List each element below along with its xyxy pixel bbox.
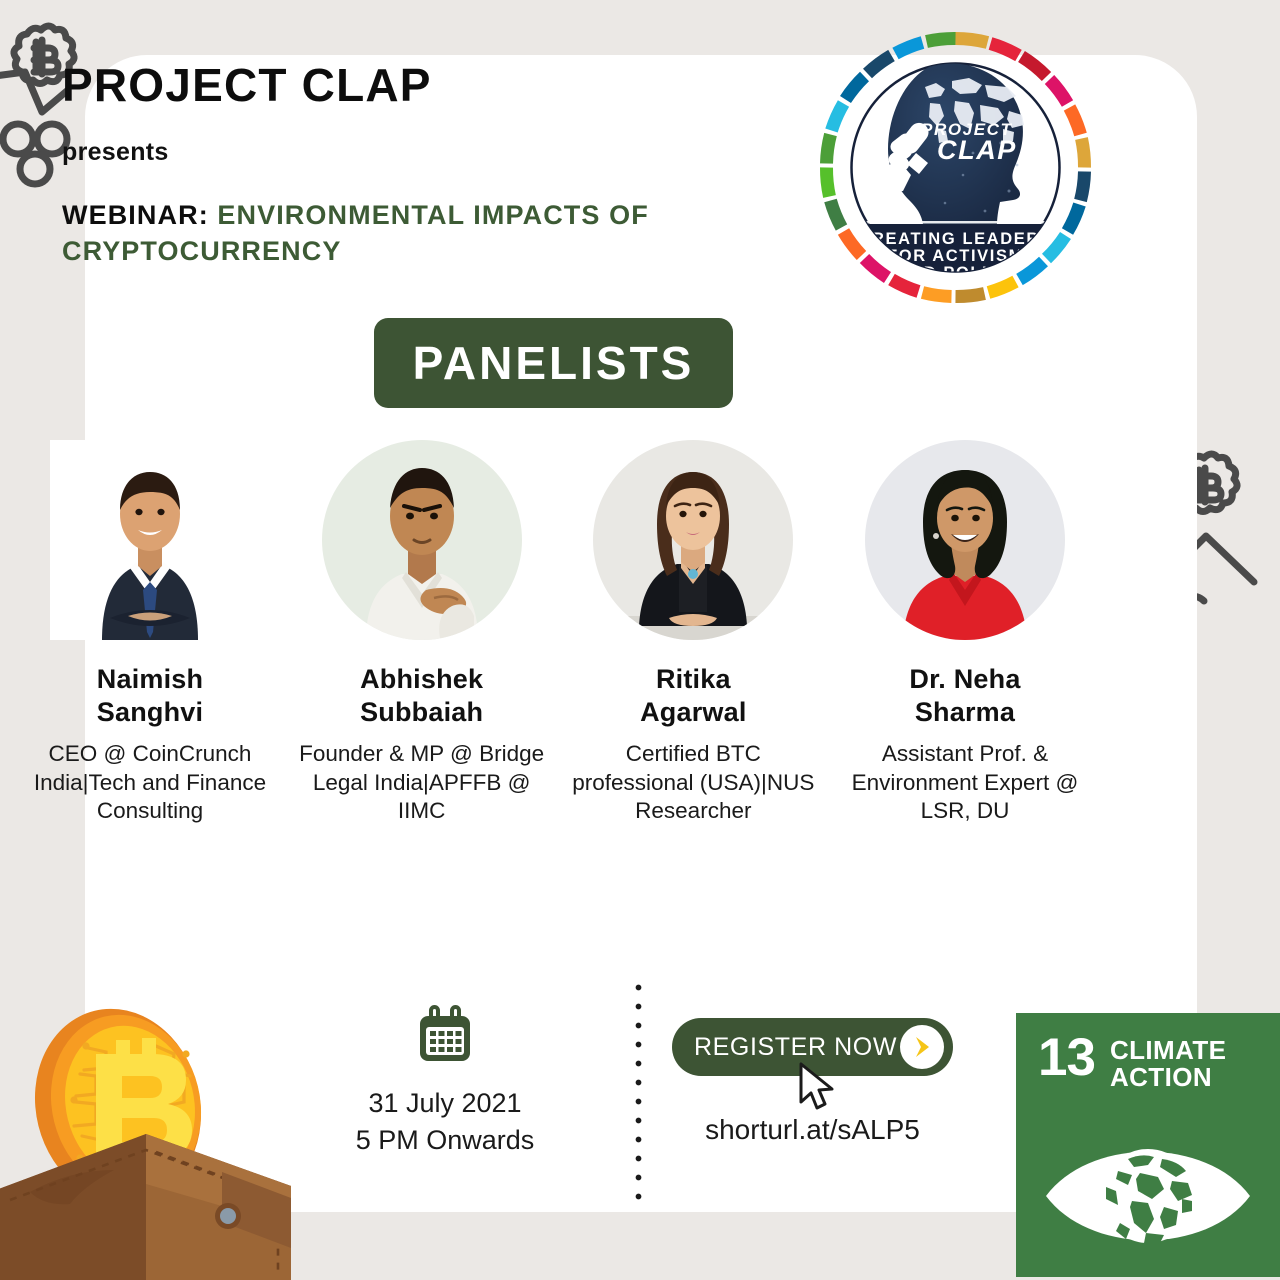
logo-tagline-line1: CREATING LEADERS [859, 230, 1053, 248]
presents-label: presents [62, 138, 762, 167]
panelists-banner-label: PANELISTS [413, 336, 695, 390]
date-block: 31 July 2021 5 PM Onwards [330, 1005, 560, 1160]
arrow-right-icon [900, 1025, 944, 1069]
short-url-text[interactable]: shorturl.at/sALP5 [672, 1114, 953, 1146]
panelist-card-4: Dr. Neha Sharma Assistant Prof. & Enviro… [835, 440, 1095, 826]
panelist-photo-1 [50, 440, 250, 640]
sdg-number: 13 [1038, 1035, 1095, 1081]
panelist-name-4-line1: Dr. Neha [909, 663, 1020, 696]
sdg-heading: 13 CLIMATE ACTION [1016, 1013, 1280, 1090]
panelist-card-2: Abhishek Subbaiah Founder & MP @ Bridge … [292, 440, 552, 826]
sdg-word-2: ACTION [1110, 1064, 1226, 1091]
panelist-name-1-line1: Naimish [97, 663, 203, 696]
date-line1: 31 July 2021 [356, 1085, 535, 1122]
page-title: PROJECT CLAP [62, 62, 762, 108]
avatar-abhishek-subbaiah [322, 440, 522, 640]
panelist-photo-4 [865, 440, 1065, 640]
panelist-name-1-line2: Sanghvi [97, 696, 203, 729]
panelist-name-3: Ritika Agarwal [640, 663, 746, 729]
panelist-card-1: Naimish Sanghvi CEO @ CoinCrunch India|T… [20, 440, 280, 826]
poster-canvas: PROJECT CLAP presents WEBINAR: ENVIRONME… [0, 0, 1280, 1280]
avatar-ritika-agarwal [593, 440, 793, 640]
project-clap-logo: PROJECT CLAP CREATING [813, 25, 1098, 310]
panelist-name-4-line2: Sharma [909, 696, 1020, 729]
webinar-label: WEBINAR: [62, 200, 209, 230]
date-text: 31 July 2021 5 PM Onwards [356, 1085, 535, 1160]
sdg-words: CLIMATE ACTION [1110, 1037, 1226, 1090]
panelist-card-3: Ritika Agarwal Certified BTC professiona… [563, 440, 823, 826]
logo-tagline-line3: AND POLICY [897, 264, 1015, 282]
panelists-banner: PANELISTS [374, 318, 733, 408]
register-now-label: REGISTER NOW [694, 1033, 897, 1062]
panelist-role-1: CEO @ CoinCrunch India|Tech and Finance … [20, 740, 280, 826]
register-now-button[interactable]: REGISTER NOW [672, 1018, 953, 1076]
header-block: PROJECT CLAP presents WEBINAR: ENVIRONME… [62, 62, 762, 270]
panelist-name-2-line2: Subbaiah [360, 696, 483, 729]
avatar-neha-sharma [865, 440, 1065, 640]
panelist-role-3: Certified BTC professional (USA)|NUS Res… [563, 740, 823, 826]
panelist-name-1: Naimish Sanghvi [97, 663, 203, 729]
mouse-cursor-icon [797, 1062, 839, 1114]
panelist-name-3-line2: Agarwal [640, 696, 746, 729]
sdg-word-1: CLIMATE [1110, 1037, 1226, 1064]
calendar-icon [414, 1005, 476, 1067]
panelist-role-4: Assistant Prof. & Environment Expert @ L… [835, 740, 1095, 826]
panelist-name-2: Abhishek Subbaiah [360, 663, 483, 729]
sdg-13-climate-action-badge: 13 CLIMATE ACTION [1016, 1013, 1280, 1277]
panelist-photo-2 [322, 440, 522, 640]
panelist-name-4: Dr. Neha Sharma [909, 663, 1020, 729]
panelist-role-2: Founder & MP @ Bridge Legal India|APFFB … [292, 740, 552, 826]
logo-brand-line2: CLAP [937, 135, 1017, 165]
register-block: REGISTER NOW shorturl.at/sALP5 [672, 1018, 962, 1146]
date-line2: 5 PM Onwards [356, 1122, 535, 1159]
panelists-row: Naimish Sanghvi CEO @ CoinCrunch India|T… [20, 440, 1095, 826]
bitcoin-wallet-illustration [0, 994, 291, 1280]
panelist-name-3-line1: Ritika [640, 663, 746, 696]
webinar-heading: WEBINAR: ENVIRONMENTAL IMPACTS OF CRYPTO… [62, 197, 762, 270]
panelist-name-2-line1: Abhishek [360, 663, 483, 696]
avatar-naimish-sanghvi [50, 440, 250, 640]
eye-globe-icon [1040, 1131, 1256, 1261]
dotted-divider [634, 978, 643, 1200]
logo-tagline-line2: FOR ACTIVISM [887, 247, 1024, 265]
panelist-photo-3 [593, 440, 793, 640]
